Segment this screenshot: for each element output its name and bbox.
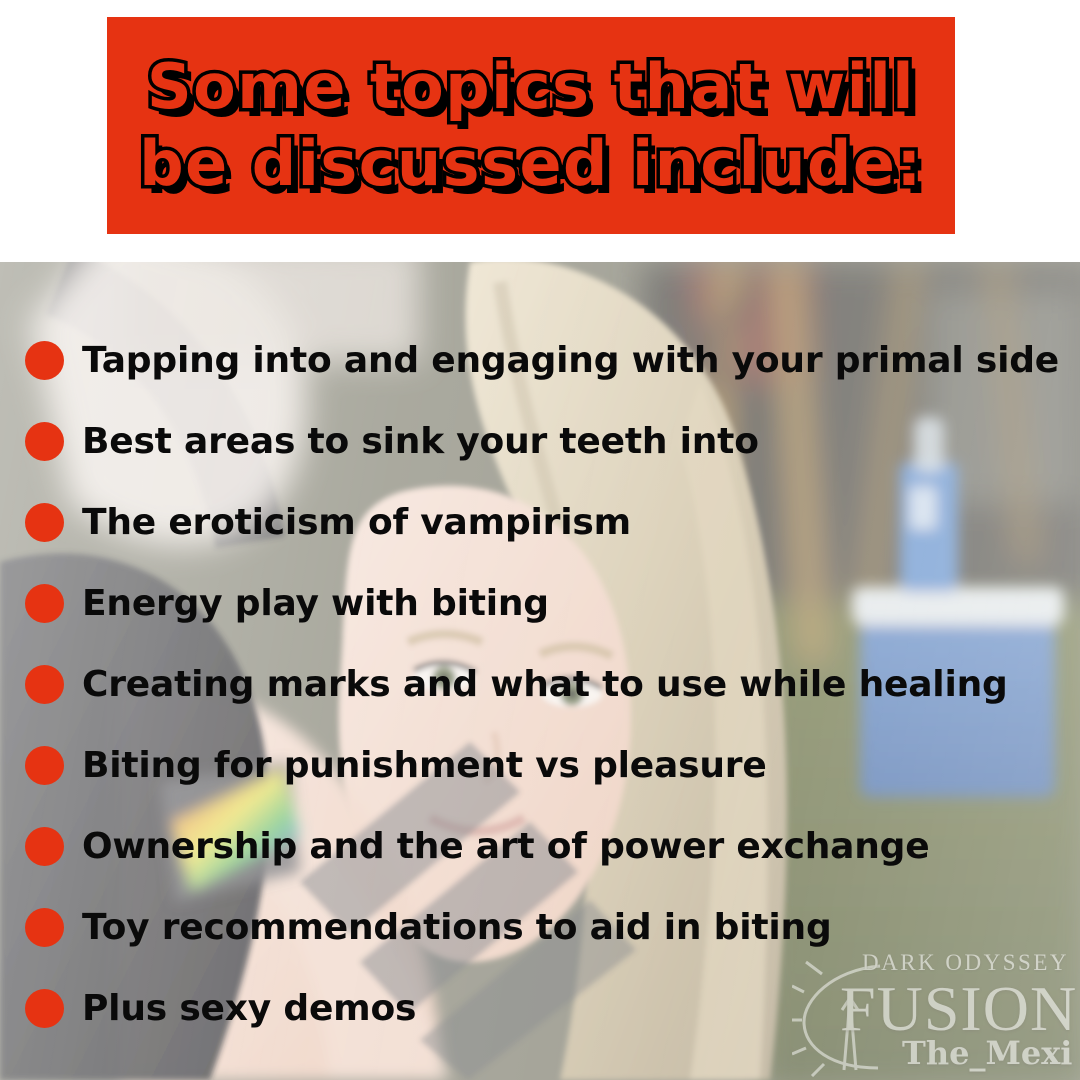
- list-item: Plus sexy demos: [0, 968, 1080, 1049]
- list-item: Best areas to sink your teeth into: [0, 401, 1080, 482]
- topic-list: Tapping into and engaging with your prim…: [0, 262, 1080, 1080]
- bullet-dot-icon: [25, 746, 64, 785]
- headline-line-2: be discussed include:: [139, 132, 923, 196]
- topic-label: Tapping into and engaging with your prim…: [82, 343, 1059, 379]
- list-item: Energy play with biting: [0, 563, 1080, 644]
- list-item: Ownership and the art of power exchange: [0, 806, 1080, 887]
- header-banner: Some topics that will be discussed inclu…: [107, 17, 955, 234]
- headline-line-1: Some topics that will: [147, 55, 915, 119]
- bullet-dot-icon: [25, 584, 64, 623]
- bullet-dot-icon: [25, 341, 64, 380]
- list-item: Toy recommendations to aid in biting: [0, 887, 1080, 968]
- topic-label: Plus sexy demos: [82, 991, 416, 1027]
- list-item: Tapping into and engaging with your prim…: [0, 320, 1080, 401]
- list-item: The eroticism of vampirism: [0, 482, 1080, 563]
- topic-label: Best areas to sink your teeth into: [82, 424, 759, 460]
- bullet-dot-icon: [25, 503, 64, 542]
- topic-label: The eroticism of vampirism: [82, 505, 631, 541]
- bullet-dot-icon: [25, 827, 64, 866]
- topic-label: Energy play with biting: [82, 586, 549, 622]
- topic-label: Toy recommendations to aid in biting: [82, 910, 832, 946]
- slide-root: DARK ODYSSEY FUSION The_Mexi Some topics…: [0, 0, 1080, 1080]
- topic-label: Biting for punishment vs pleasure: [82, 748, 767, 784]
- bullet-dot-icon: [25, 422, 64, 461]
- bullet-dot-icon: [25, 908, 64, 947]
- list-item: Creating marks and what to use while hea…: [0, 644, 1080, 725]
- topic-label: Ownership and the art of power exchange: [82, 829, 929, 865]
- bullet-dot-icon: [25, 665, 64, 704]
- list-item: Biting for punishment vs pleasure: [0, 725, 1080, 806]
- bullet-dot-icon: [25, 989, 64, 1028]
- topic-label: Creating marks and what to use while hea…: [82, 667, 1008, 703]
